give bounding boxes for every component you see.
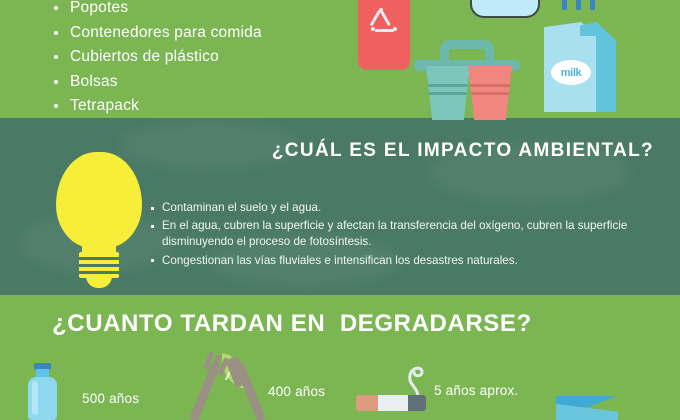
impact-heading: ¿CUÁL ES EL IMPACTO AMBIENTAL? xyxy=(272,140,654,162)
food-container-lid-icon xyxy=(470,0,540,18)
list-item: Congestionan las vías fluviales e intens… xyxy=(150,253,662,269)
cutlery-icon xyxy=(178,355,272,420)
infographic-page: Popotes Contenedores para comida Cubiert… xyxy=(0,0,680,420)
milk-label-text: milk xyxy=(561,67,581,79)
plastic-cups-icon xyxy=(414,22,520,120)
degradation-label-bottle: 500 años xyxy=(82,391,139,406)
milk-carton-icon: milk xyxy=(544,22,616,112)
smoke-icon xyxy=(402,361,428,397)
list-item: Contaminan el suelo y el agua. xyxy=(150,200,662,216)
lightbulb-icon xyxy=(48,152,154,287)
list-item: Tetrapack xyxy=(52,94,352,119)
single-use-plastics-list: Popotes Contenedores para comida Cubiert… xyxy=(52,0,352,119)
milk-label: milk xyxy=(551,60,591,85)
list-item: Popotes xyxy=(52,0,352,21)
impact-list: Contaminan el suelo y el agua. En el agu… xyxy=(150,200,662,271)
list-item: Cubiertos de plástico xyxy=(52,45,352,70)
plastic-bottle-icon xyxy=(28,363,58,420)
straw-icon xyxy=(576,0,581,10)
recycle-triangle-icon xyxy=(370,8,398,33)
straw-icon xyxy=(562,0,567,10)
list-item: Bolsas xyxy=(52,70,352,95)
recycle-bag-icon xyxy=(358,0,410,70)
degradation-label-cutlery: 400 años xyxy=(268,384,325,399)
degradation-label-cigarette: 5 años aprox. xyxy=(434,383,518,398)
cigarette-icon xyxy=(356,395,426,420)
degradation-heading: ¿CUANTO TARDAN EN DEGRADARSE? xyxy=(52,310,532,338)
list-item: Contenedores para comida xyxy=(52,21,352,46)
straw-icon xyxy=(590,0,595,10)
list-item: En el agua, cubren la superficie y afect… xyxy=(150,218,662,250)
